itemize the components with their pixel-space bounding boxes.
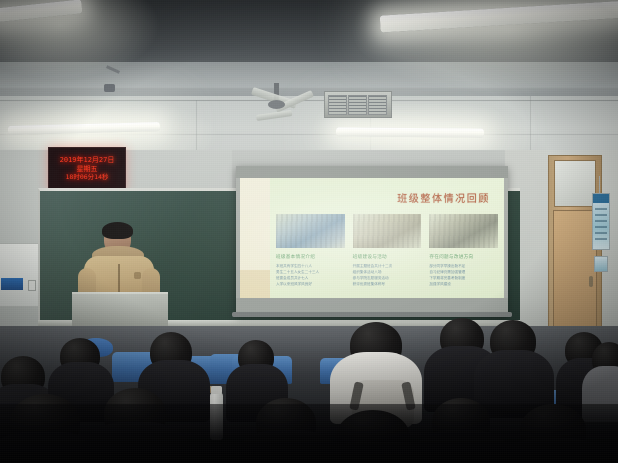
slide-column-heading: 班级基本情况介绍 [276,254,345,260]
wall-camera-icon [104,84,115,92]
slide-column: 班级基本情况介绍 本班共有学生四十八人 男生二十五人女生二十三人 班委会成员共计… [276,254,345,287]
audience-body [412,430,512,463]
screen-weight-bar [232,312,512,317]
wall-cabinet[interactable] [0,243,40,307]
poster-hanger [599,176,600,194]
slide-column: 存在问题与改进方向 部分同学早操出勤不足 自习纪律仍需加强管理 下学期将完善考勤… [429,254,498,287]
door-transom-window [554,160,596,207]
wall-seam [0,100,618,101]
wall-poster [592,193,610,250]
water-bottle [210,392,223,440]
projection-screen: 班级整体情况回顾 班级基本情况介绍 本班共有学生四十八人 男生二十五人女生二十三… [236,166,508,316]
slide-photo [353,214,422,248]
slide-column-heading: 班级建设与活动 [353,254,422,260]
slide-photo [276,214,345,248]
presenter-hair [102,222,133,239]
wall-notice-small [594,256,608,272]
presentation-slide: 班级整体情况回顾 班级基本情况介绍 本班共有学生四十八人 男生二十五人女生二十三… [240,178,504,298]
slide-photo-strip [276,214,498,248]
slide-title: 班级整体情况回顾 [397,190,490,205]
led-line-weekday: 星期五 [77,166,98,173]
bottle-cap [211,386,222,394]
screen-top-bar [236,166,508,178]
red-led-date-display: 2019年12月27日 星期五 18时06分14秒 [48,147,126,191]
audience-body [582,366,618,422]
led-line-date: 2019年12月27日 [60,157,115,164]
wall-vent-grille [324,91,392,118]
coat-badge [134,272,141,279]
slide-column-line: 入学以来班风学风良好 [276,281,345,287]
fluorescent-tube-light [336,127,484,137]
poster-header [593,194,609,203]
slide-column: 班级建设与活动 开展主题班会共计十二次 组织集体活动八场 参与学院志愿服务活动 … [353,254,422,287]
slide-photo [429,214,498,248]
slide-columns: 班级基本情况介绍 本班共有学生四十八人 男生二十五人女生二十三人 班委会成员共计… [276,254,498,287]
classroom-photo: 2019年12月27日 星期五 18时06分14秒 班级整体情况回顾 [0,0,618,463]
ceiling-fan-hub [268,100,285,109]
led-line-time: 18时06分14秒 [66,174,109,181]
slide-corner-accent [240,270,270,298]
slide-column-heading: 存在问题与改进方向 [429,254,498,260]
door-handle[interactable] [589,276,593,287]
cabinet-label [1,278,23,290]
audience-body [82,422,190,463]
slide-column-line: 获评优秀班集体称号 [353,281,422,287]
cabinet-button[interactable] [28,280,36,291]
wall-seam [0,134,618,135]
slide-column-line: 加强学风建设 [429,281,498,287]
